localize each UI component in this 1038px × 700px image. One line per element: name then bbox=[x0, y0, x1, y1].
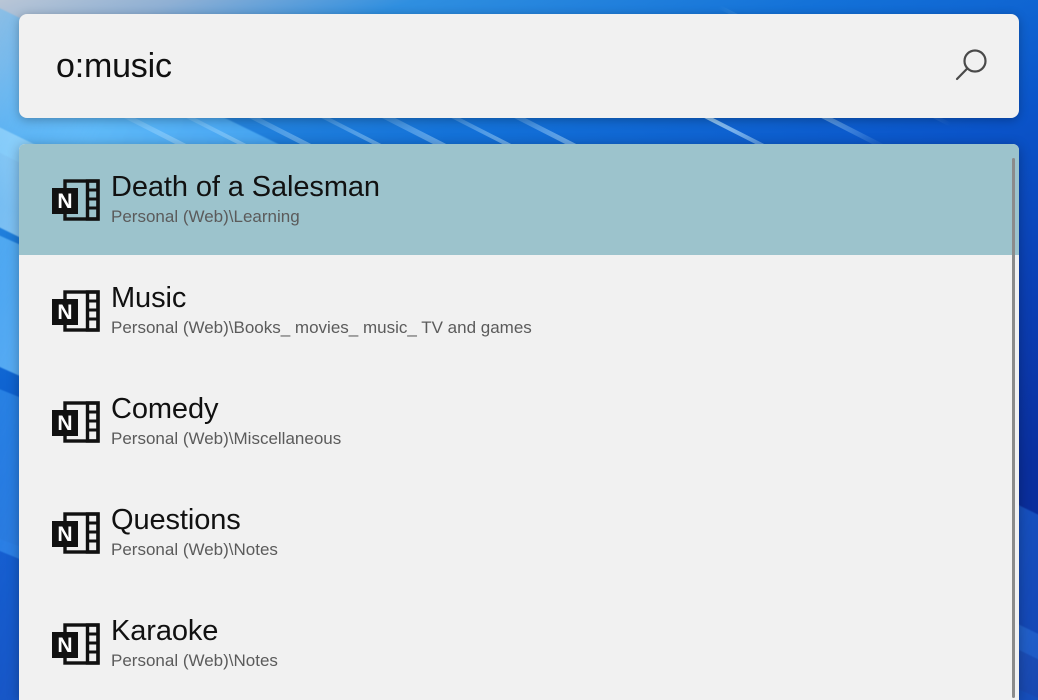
search-icon[interactable] bbox=[923, 14, 1019, 118]
list-item[interactable]: N Music Personal (Web)\Books_ movies_ mu… bbox=[19, 255, 1019, 366]
list-item-title: Comedy bbox=[111, 394, 341, 425]
scrollbar-thumb[interactable] bbox=[1012, 158, 1015, 698]
search-input[interactable]: o:music bbox=[19, 49, 923, 83]
onenote-icon: N bbox=[39, 620, 111, 668]
list-item-subtitle: Personal (Web)\Notes bbox=[111, 652, 278, 671]
list-item-subtitle: Personal (Web)\Learning bbox=[111, 208, 380, 227]
list-item-subtitle: Personal (Web)\Books_ movies_ music_ TV … bbox=[111, 319, 532, 338]
svg-text:N: N bbox=[57, 301, 72, 324]
list-item-subtitle: Personal (Web)\Notes bbox=[111, 541, 278, 560]
list-item[interactable]: N Questions Personal (Web)\Notes bbox=[19, 477, 1019, 588]
svg-text:N: N bbox=[57, 634, 72, 657]
onenote-icon: N bbox=[39, 509, 111, 557]
list-item-text: Death of a Salesman Personal (Web)\Learn… bbox=[111, 172, 380, 227]
list-item-subtitle: Personal (Web)\Miscellaneous bbox=[111, 430, 341, 449]
list-item[interactable]: N Karaoke Personal (Web)\Notes bbox=[19, 588, 1019, 699]
list-item-text: Comedy Personal (Web)\Miscellaneous bbox=[111, 394, 341, 449]
search-box[interactable]: o:music bbox=[19, 14, 1019, 118]
list-item-text: Questions Personal (Web)\Notes bbox=[111, 505, 278, 560]
onenote-icon: N bbox=[39, 176, 111, 224]
svg-text:N: N bbox=[57, 190, 72, 213]
list-item-text: Music Personal (Web)\Books_ movies_ musi… bbox=[111, 283, 532, 338]
list-item-title: Death of a Salesman bbox=[111, 172, 380, 203]
search-results-list: N Death of a Salesman Personal (Web)\Lea… bbox=[19, 144, 1019, 699]
list-item-title: Questions bbox=[111, 505, 278, 536]
onenote-icon: N bbox=[39, 287, 111, 335]
list-item[interactable]: N Death of a Salesman Personal (Web)\Lea… bbox=[19, 144, 1019, 255]
desktop-wallpaper: o:music N bbox=[0, 0, 1038, 700]
list-item-title: Music bbox=[111, 283, 532, 314]
svg-text:N: N bbox=[57, 412, 72, 435]
list-item-text: Karaoke Personal (Web)\Notes bbox=[111, 616, 278, 671]
list-item[interactable]: N Comedy Personal (Web)\Miscellaneous bbox=[19, 366, 1019, 477]
list-item-title: Karaoke bbox=[111, 616, 278, 647]
results-scrollbar[interactable] bbox=[1011, 154, 1016, 700]
onenote-icon: N bbox=[39, 398, 111, 446]
search-results-panel: N Death of a Salesman Personal (Web)\Lea… bbox=[19, 144, 1019, 700]
svg-text:N: N bbox=[57, 523, 72, 546]
